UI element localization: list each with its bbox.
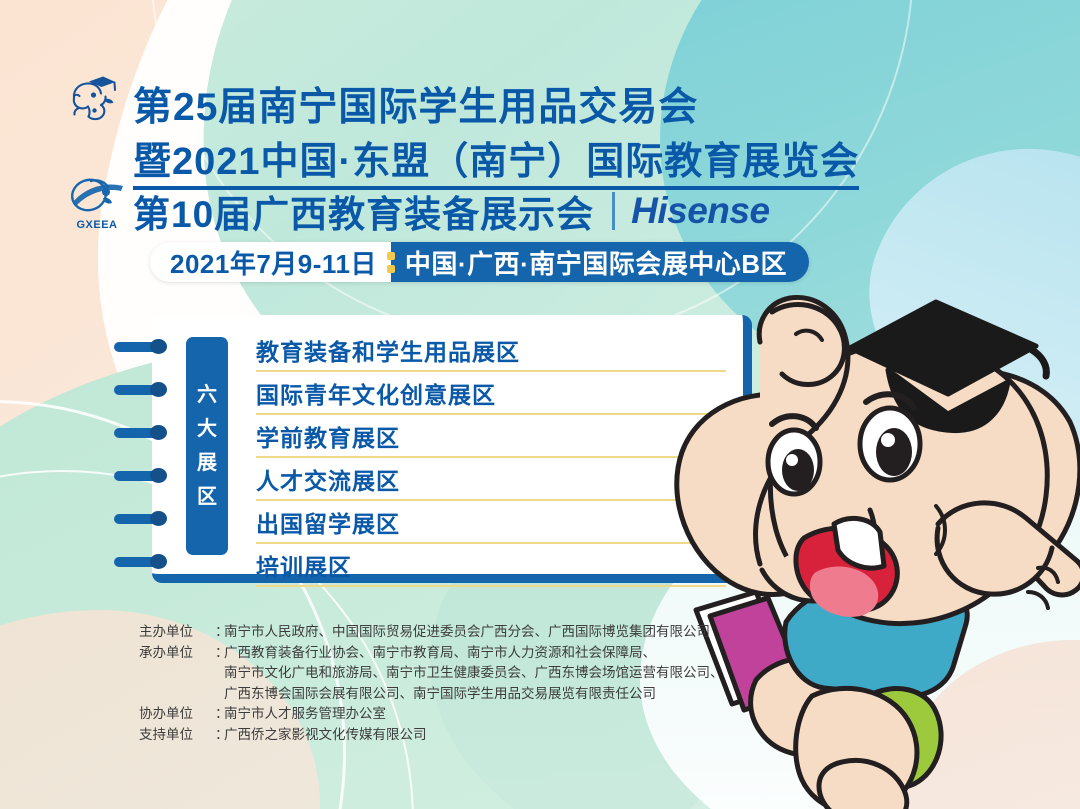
- title-line-3: 第10届广西教育装备展示会 Hisense: [133, 184, 770, 238]
- elephant-logo-icon: [62, 68, 128, 134]
- tab-char-2: 大: [197, 419, 217, 439]
- title-line-1-text: 第25届南宁国际学生用品交易会: [133, 76, 698, 132]
- footer-value: 南宁市人民政府、中国国际贸易促进委员会广西分会、广西国际博览集团有限公司: [224, 622, 739, 643]
- title-line-1: 第25届南宁国际学生用品交易会: [133, 76, 698, 132]
- footer-value: 广西侨之家影视文化传媒有限公司: [224, 725, 739, 746]
- footer-row: 支持单位 ： 广西侨之家影视文化传媒有限公司: [139, 725, 739, 746]
- date-venue-separator-icon: [383, 242, 399, 282]
- date-venue-bar: 2021年7月9-11日 中国·广西·南宁国际会展中心B区: [150, 242, 809, 282]
- footer-row: 协办单位 ： 南宁市人才服务管理办公室: [139, 704, 739, 725]
- footer-label: 承办单位: [139, 643, 215, 664]
- footer-value: 广西东博会国际会展有限公司、南宁国际学生用品交易展览有限责任公司: [224, 684, 739, 705]
- title-line-2: 暨2021中国·东盟（南宁）国际教育展览会: [133, 130, 859, 190]
- footer-row: 承办单位 ： 广西教育装备行业协会、南宁市教育局、南宁市人力资源和社会保障局、: [139, 643, 739, 664]
- footer-label: 支持单位: [139, 725, 215, 746]
- event-date: 2021年7月9-11日: [150, 242, 383, 282]
- title-divider: [612, 192, 615, 230]
- event-venue: 中国·广西·南宁国际会展中心B区: [399, 242, 809, 282]
- spiral-ring-icon: [114, 468, 168, 483]
- footer-label: 主办单位: [139, 622, 215, 643]
- footer-colon: ：: [215, 725, 224, 746]
- zone-label: 学前教育展区: [256, 419, 400, 453]
- title-line-2-text: 暨2021中国·东盟（南宁）国际教育展览会: [133, 130, 859, 190]
- footer-value: 广西教育装备行业协会、南宁市教育局、南宁市人力资源和社会保障局、: [224, 643, 739, 664]
- footer-row: 承办单位 ： 南宁市文化广电和旅游局、南宁市卫生健康委员会、广西东博会场馆运营有…: [139, 663, 739, 684]
- title-line-3-text: 第10届广西教育装备展示会: [133, 184, 594, 238]
- tab-char-4: 区: [197, 487, 217, 507]
- footer-value: 南宁市人才服务管理办公室: [224, 704, 739, 725]
- footer-colon: ：: [215, 622, 224, 643]
- gxeea-label: GXEEA: [64, 219, 130, 231]
- zone-label: 人才交流展区: [256, 462, 400, 496]
- hisense-logo: Hisense: [631, 190, 769, 232]
- footer-label: 协办单位: [139, 704, 215, 725]
- footer-colon: ：: [215, 704, 224, 725]
- tab-char-3: 展: [197, 453, 217, 473]
- footer-colon: ：: [215, 643, 224, 664]
- notebook-spiral-rings: [114, 339, 174, 569]
- spiral-ring-icon: [114, 554, 168, 569]
- zone-label: 出国留学展区: [256, 505, 400, 539]
- organizers-footer: 主办单位 ： 南宁市人民政府、中国国际贸易促进委员会广西分会、广西国际博览集团有…: [139, 622, 739, 745]
- spiral-ring-icon: [114, 382, 168, 397]
- spiral-ring-icon: [114, 339, 168, 354]
- zone-label: 教育装备和学生用品展区: [256, 333, 520, 367]
- footer-row: 承办单位 ： 广西东博会国际会展有限公司、南宁国际学生用品交易展览有限责任公司: [139, 684, 739, 705]
- tab-char-1: 六: [197, 385, 217, 405]
- footer-value: 南宁市文化广电和旅游局、南宁市卫生健康委员会、广西东博会场馆运营有限公司、: [224, 663, 739, 684]
- notebook-section-tab: 六 大 展 区: [186, 337, 228, 555]
- zone-label: 培训展区: [256, 548, 352, 582]
- zone-label: 国际青年文化创意展区: [256, 376, 496, 410]
- footer-row: 主办单位 ： 南宁市人民政府、中国国际贸易促进委员会广西分会、广西国际博览集团有…: [139, 622, 739, 643]
- spiral-ring-icon: [114, 511, 168, 526]
- spiral-ring-icon: [114, 425, 168, 440]
- gxeea-logo-icon: GXEEA: [64, 172, 130, 236]
- poster-root: GXEEA 第25届南宁国际学生用品交易会 暨2021中国·东盟（南宁）国际教育…: [0, 0, 1080, 809]
